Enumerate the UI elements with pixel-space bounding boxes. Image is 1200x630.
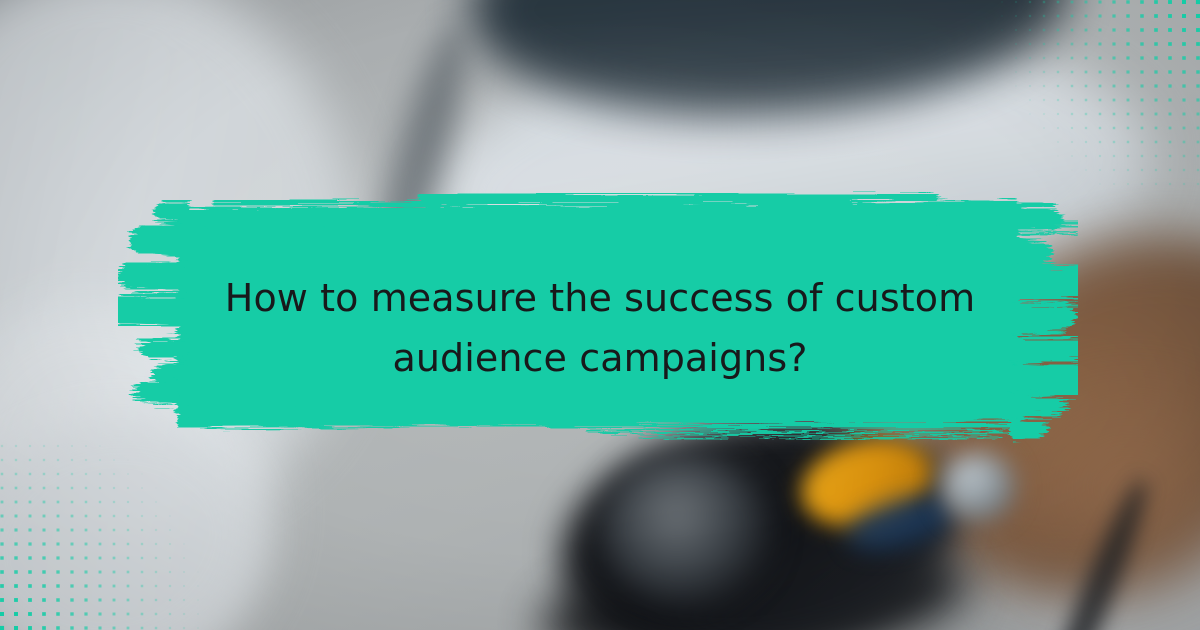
page-title: How to measure the success of custom aud… — [180, 268, 1020, 388]
social-share-card: How to measure the success of custom aud… — [0, 0, 1200, 630]
